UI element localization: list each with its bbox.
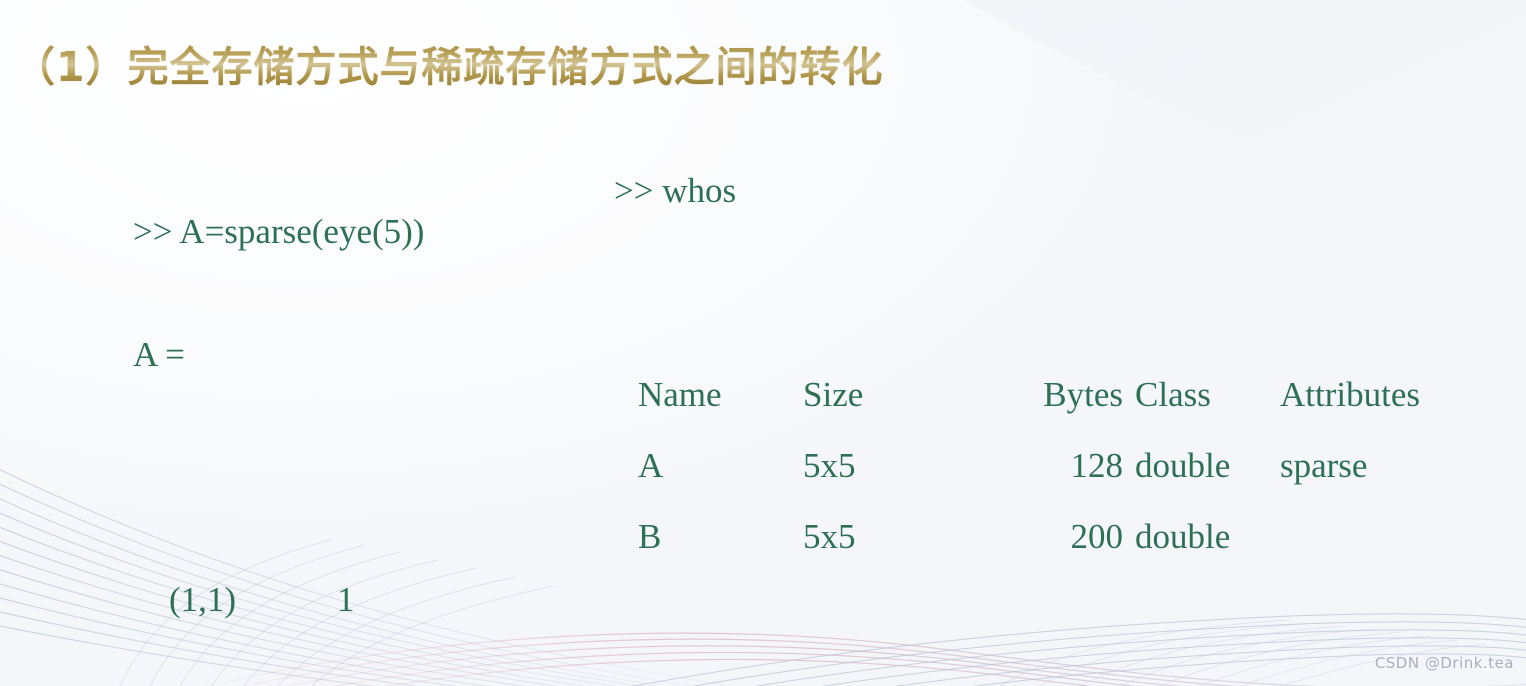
right-console-block: >> whos Name Size Bytes Class Attributes… xyxy=(614,88,1480,654)
slide-canvas: （1）完全存储方式与稀疏存储方式之间的转化 >> A=sparse(eye(5)… xyxy=(0,0,1526,686)
cell-class: double xyxy=(1135,501,1280,572)
column-header-name: Name xyxy=(614,358,803,430)
cell-attributes: sparse xyxy=(1280,430,1480,501)
left-console-block: >> A=sparse(eye(5)) A = (1,1)1 (2,2)1 (3… xyxy=(133,88,575,686)
cell-bytes: 128 xyxy=(1003,430,1135,501)
column-header-size: Size xyxy=(803,358,1003,430)
cell-name: B xyxy=(614,501,803,572)
sparse-entry-list: (1,1)1 (2,2)1 (3,3)1 (4,4)1 (5,5)1 xyxy=(169,498,575,686)
table-row: B 5x5 200 double xyxy=(614,501,1480,572)
page-title: （1）完全存储方式与稀疏存储方式之间的转化 xyxy=(14,33,884,93)
watermark: CSDN @Drink.tea xyxy=(1375,654,1514,672)
sparse-index: (1,1) xyxy=(169,580,337,620)
column-header-attributes: Attributes xyxy=(1280,358,1480,430)
table-row: A 5x5 128 double sparse xyxy=(614,430,1480,501)
sparse-value: 1 xyxy=(337,580,355,620)
column-header-bytes: Bytes xyxy=(1003,358,1135,430)
command-sparse-eye: >> A=sparse(eye(5)) xyxy=(133,211,575,252)
cell-name: A xyxy=(614,430,803,501)
result-label-a: A = xyxy=(133,334,575,375)
table-header-row: Name Size Bytes Class Attributes xyxy=(614,358,1480,430)
cell-size: 5x5 xyxy=(803,501,1003,572)
column-header-class: Class xyxy=(1135,358,1280,430)
cell-bytes: 200 xyxy=(1003,501,1135,572)
list-item: (1,1)1 xyxy=(169,580,575,620)
cell-size: 5x5 xyxy=(803,430,1003,501)
cell-class: double xyxy=(1135,430,1280,501)
cell-attributes xyxy=(1280,501,1480,572)
command-whos: >> whos xyxy=(614,170,1480,211)
whos-table: Name Size Bytes Class Attributes A 5x5 1… xyxy=(614,358,1480,572)
